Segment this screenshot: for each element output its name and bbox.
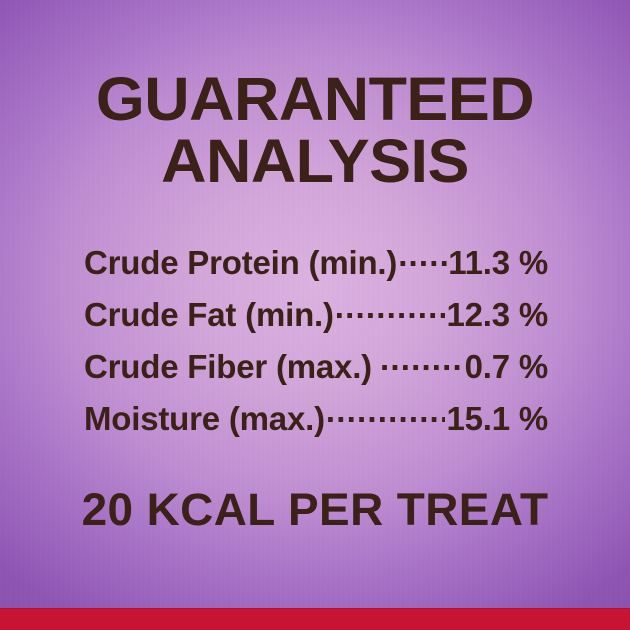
analysis-row: Crude Fiber (max.) 0.7 % — [84, 345, 548, 397]
dot-leader — [335, 293, 446, 326]
title-line-1: GUARANTEED — [0, 68, 630, 130]
page-title: GUARANTEED ANALYSIS — [0, 68, 630, 192]
analysis-row: Crude Protein (min.) 11.3 % — [84, 241, 548, 293]
analysis-row: Moisture (max.) 15.1 % — [84, 397, 548, 449]
nutrient-value: 12.3 % — [446, 296, 548, 334]
bottom-accent-bar — [0, 608, 630, 630]
guaranteed-analysis-panel: GUARANTEED ANALYSIS Crude Protein (min.)… — [0, 0, 630, 630]
nutrient-value: 11.3 % — [448, 244, 548, 282]
analysis-row: Crude Fat (min.) 12.3 % — [84, 293, 548, 345]
analysis-list: Crude Protein (min.) 11.3 % Crude Fat (m… — [84, 241, 548, 449]
dot-leader — [398, 241, 447, 274]
nutrient-value: 0.7 % — [465, 348, 548, 386]
nutrient-label: Crude Fat (min.) — [84, 296, 334, 334]
dot-leader — [380, 345, 464, 378]
panel-content: GUARANTEED ANALYSIS Crude Protein (min.)… — [0, 0, 630, 630]
nutrient-label: Moisture (max.) — [84, 400, 325, 438]
dot-leader — [326, 397, 446, 430]
nutrient-label: Crude Protein (min.) — [84, 244, 397, 282]
calorie-statement: 20 KCAL PER TREAT — [0, 487, 630, 533]
nutrient-value: 15.1 % — [446, 400, 548, 438]
title-line-2: ANALYSIS — [0, 130, 630, 192]
nutrient-label: Crude Fiber (max.) — [84, 348, 372, 386]
